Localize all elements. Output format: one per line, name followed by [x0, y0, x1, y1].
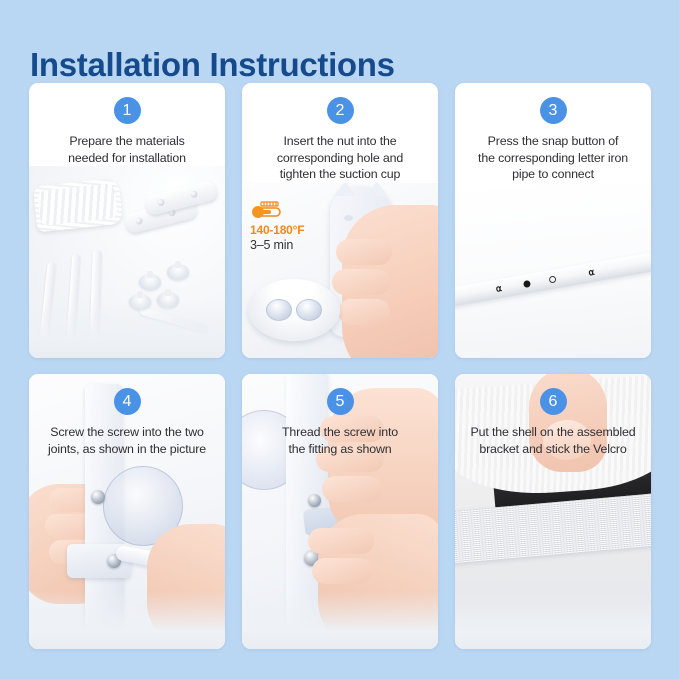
- step-card-6[interactable]: 6 Put the shell on the assembled bracket…: [455, 374, 651, 649]
- photo-bottom-fade: [29, 300, 225, 358]
- step-caption-1: Prepare the materials needed for install…: [37, 133, 217, 166]
- step-card-5[interactable]: 5 Thread the screw into the fitting as s…: [242, 374, 438, 649]
- step-6-header: 6 Put the shell on the assembled bracket…: [455, 374, 651, 457]
- temperature-note: 140-180°F 3–5 min: [250, 201, 304, 252]
- screw-upper: [308, 494, 321, 507]
- step-card-2[interactable]: 2 Insert the nut into the corresponding …: [242, 83, 438, 358]
- hand-inserting-nut: [342, 205, 438, 359]
- step-2-header: 2 Insert the nut into the corresponding …: [242, 83, 438, 183]
- step-caption-6: Put the shell on the assembled bracket a…: [463, 424, 643, 457]
- step-1-header: 1 Prepare the materials needed for insta…: [29, 83, 225, 166]
- step-caption-2: Insert the nut into the corresponding ho…: [250, 133, 430, 183]
- step-number-badge-3: 3: [540, 97, 567, 124]
- step-4-header: 4 Screw the screw into the two joints, a…: [29, 374, 225, 457]
- installation-instructions-page: Installation Instructions 1 Prepare the …: [0, 0, 679, 679]
- step-caption-4: Screw the screw into the two joints, as …: [37, 424, 217, 457]
- step-card-1[interactable]: 1 Prepare the materials needed for insta…: [29, 83, 225, 358]
- photo-bottom-fade: [455, 591, 651, 649]
- step-caption-3: Press the snap button of the correspondi…: [463, 133, 643, 183]
- mesh-fabric-part: [33, 178, 123, 233]
- step-number-badge-5: 5: [327, 388, 354, 415]
- step-number-badge-4: 4: [114, 388, 141, 415]
- duration-value: 3–5 min: [250, 238, 304, 252]
- water-bowl: [248, 279, 340, 341]
- page-title: Installation Instructions: [30, 46, 395, 84]
- step-3-photo: ⍺ ⍺: [455, 183, 651, 359]
- step-number-badge-2: 2: [327, 97, 354, 124]
- step-1-photo: [29, 166, 225, 358]
- step-number-badge-1: 1: [114, 97, 141, 124]
- step-card-3[interactable]: 3 Press the snap button of the correspon…: [455, 83, 651, 358]
- joint-screw-upper: [91, 490, 105, 504]
- step-number-badge-6: 6: [540, 388, 567, 415]
- step-3-header: 3 Press the snap button of the correspon…: [455, 83, 651, 183]
- suction-cup-2: [167, 264, 189, 280]
- photo-bottom-fade: [29, 591, 225, 649]
- step-5-header: 5 Thread the screw into the fitting as s…: [242, 374, 438, 457]
- photo-bottom-fade: [242, 591, 438, 649]
- temperature-value: 140-180°F: [250, 223, 304, 237]
- step-2-photo: 140-180°F 3–5 min: [242, 183, 438, 359]
- steps-grid: 1 Prepare the materials needed for insta…: [29, 83, 651, 649]
- step-caption-5: Thread the screw into the fitting as sho…: [250, 424, 430, 457]
- suction-cup-1: [139, 274, 161, 290]
- thermometer-icon: [250, 201, 290, 219]
- step-card-4[interactable]: 4 Screw the screw into the two joints, a…: [29, 374, 225, 649]
